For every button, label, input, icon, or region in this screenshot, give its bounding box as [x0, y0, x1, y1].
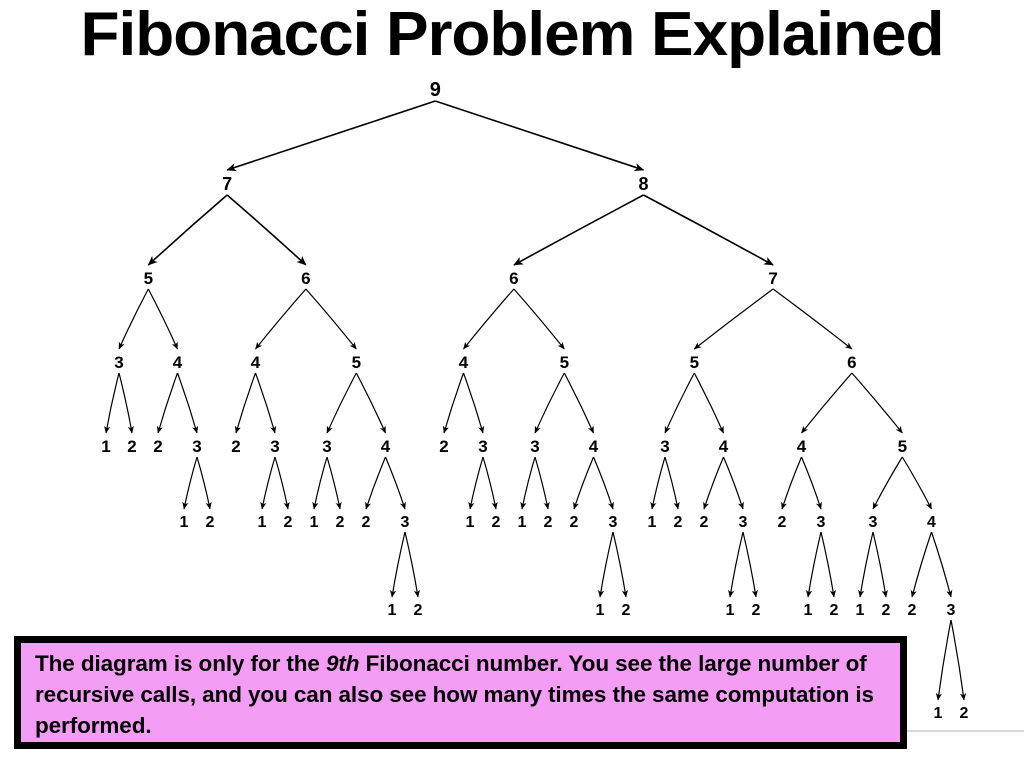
tree-node-3: 3: [322, 437, 331, 456]
tree-edge: [327, 457, 340, 509]
tree-node-1: 1: [934, 705, 943, 722]
tree-edge: [256, 289, 306, 349]
tree-node-1: 1: [310, 514, 319, 531]
tree-edge: [535, 373, 564, 433]
tree-edge: [652, 457, 665, 509]
tree-node-4: 4: [251, 353, 261, 372]
tree-node-3: 3: [401, 514, 410, 531]
tree-edge: [821, 532, 834, 597]
tree-node-3: 3: [478, 437, 487, 456]
tree-edge: [444, 373, 464, 433]
tree-node-3: 3: [739, 514, 748, 531]
tree-node-2: 2: [231, 437, 240, 456]
tree-edge: [356, 373, 385, 433]
tree-node-7: 7: [222, 174, 232, 194]
tree-node-3: 3: [869, 514, 878, 531]
tree-node-2: 2: [908, 602, 917, 619]
tree-node-2: 2: [492, 514, 501, 531]
tree-edge: [262, 457, 275, 509]
tree-edge: [178, 373, 198, 433]
tree-node-2: 2: [752, 602, 761, 619]
tree-node-1: 1: [648, 514, 657, 531]
tree-edge: [184, 457, 197, 509]
tree-nodes: 9753124231264231253124231286423125312423…: [101, 79, 968, 722]
tree-node-1: 1: [518, 514, 527, 531]
tree-edge: [522, 457, 535, 509]
tree-node-5: 5: [560, 353, 569, 372]
tree-edge: [514, 195, 644, 265]
caption-callout: The diagram is only for the 9th Fibonacc…: [14, 636, 907, 749]
tree-node-2: 2: [700, 514, 709, 531]
tree-node-2: 2: [622, 602, 631, 619]
tree-edge: [574, 457, 594, 509]
tree-node-1: 1: [726, 602, 735, 619]
tree-node-2: 2: [127, 437, 136, 456]
tree-edge: [148, 289, 177, 349]
tree-node-6: 6: [301, 269, 310, 288]
tree-edge: [564, 373, 593, 433]
tree-node-7: 7: [768, 269, 777, 288]
caption-part-1: The diagram is only for the: [35, 651, 326, 676]
tree-node-1: 1: [258, 514, 267, 531]
tree-node-2: 2: [362, 514, 371, 531]
tree-node-6: 6: [509, 269, 518, 288]
tree-edge: [275, 457, 288, 509]
tree-node-1: 1: [856, 602, 865, 619]
caption-text: The diagram is only for the 9th Fibonacc…: [35, 648, 900, 741]
tree-node-2: 2: [882, 602, 891, 619]
tree-edge: [119, 289, 148, 349]
tree-edge: [236, 373, 256, 433]
tree-node-3: 3: [609, 514, 618, 531]
tree-edge: [912, 532, 932, 597]
tree-edge: [665, 457, 678, 509]
tree-node-3: 3: [270, 437, 279, 456]
tree-edge: [724, 457, 744, 509]
baseline-rule: [907, 730, 1024, 732]
tree-edge: [392, 532, 405, 597]
tree-edge: [613, 532, 626, 597]
caption-emphasis: 9th: [326, 651, 359, 676]
tree-node-1: 1: [101, 437, 110, 456]
tree-edge: [227, 195, 306, 265]
tree-node-2: 2: [778, 514, 787, 531]
tree-edge: [464, 373, 484, 433]
tree-edge: [873, 457, 902, 509]
tree-edge: [197, 457, 210, 509]
tree-edge: [802, 373, 852, 433]
tree-edge: [694, 289, 773, 349]
tree-edge: [470, 457, 483, 509]
tree-node-2: 2: [960, 705, 969, 722]
tree-node-2: 2: [439, 437, 448, 456]
tree-edge: [314, 457, 327, 509]
tree-edge: [327, 373, 356, 433]
tree-edge: [464, 289, 514, 349]
tree-node-2: 2: [336, 514, 345, 531]
tree-edge: [951, 620, 964, 700]
tree-edge: [802, 457, 822, 509]
tree-edge: [852, 373, 902, 433]
tree-node-6: 6: [847, 353, 856, 372]
tree-edge: [306, 289, 356, 349]
tree-node-9: 9: [430, 79, 441, 101]
tree-node-5: 5: [144, 269, 153, 288]
tree-node-1: 1: [466, 514, 475, 531]
tree-node-3: 3: [114, 353, 123, 372]
tree-edge: [483, 457, 496, 509]
tree-edge: [256, 373, 276, 433]
tree-edge: [148, 195, 227, 265]
tree-node-4: 4: [381, 437, 391, 456]
tree-node-2: 2: [830, 602, 839, 619]
tree-node-3: 3: [660, 437, 669, 456]
tree-node-2: 2: [206, 514, 215, 531]
tree-edge: [535, 457, 548, 509]
tree-edge: [600, 532, 613, 597]
tree-edge: [405, 532, 418, 597]
tree-node-8: 8: [638, 174, 648, 194]
tree-node-4: 4: [797, 437, 807, 456]
tree-edge: [435, 101, 643, 170]
tree-edge: [644, 195, 774, 265]
tree-edge: [119, 373, 132, 433]
tree-edge: [227, 101, 435, 170]
tree-edge: [782, 457, 802, 509]
tree-node-5: 5: [352, 353, 361, 372]
tree-node-1: 1: [804, 602, 813, 619]
slide-root: Fibonacci Problem Explained 975312423126…: [0, 0, 1024, 768]
tree-edge: [704, 457, 724, 509]
tree-node-2: 2: [544, 514, 553, 531]
tree-edge: [808, 532, 821, 597]
tree-node-4: 4: [589, 437, 599, 456]
tree-edge: [902, 457, 931, 509]
tree-node-3: 3: [817, 514, 826, 531]
tree-node-3: 3: [530, 437, 539, 456]
tree-edge: [932, 532, 952, 597]
tree-node-2: 2: [414, 602, 423, 619]
tree-node-1: 1: [180, 514, 189, 531]
tree-node-1: 1: [596, 602, 605, 619]
tree-node-3: 3: [947, 602, 956, 619]
tree-edge: [158, 373, 178, 433]
tree-node-4: 4: [459, 353, 469, 372]
tree-edge: [514, 289, 564, 349]
tree-node-2: 2: [153, 437, 162, 456]
tree-edge: [665, 373, 694, 433]
tree-node-4: 4: [173, 353, 183, 372]
tree-node-2: 2: [284, 514, 293, 531]
tree-node-3: 3: [192, 437, 201, 456]
tree-node-4: 4: [927, 514, 936, 531]
tree-edge: [743, 532, 756, 597]
tree-edge: [594, 457, 614, 509]
tree-node-4: 4: [719, 437, 729, 456]
tree-edge: [106, 373, 119, 433]
tree-edge: [860, 532, 873, 597]
tree-edge: [386, 457, 406, 509]
tree-edge: [366, 457, 386, 509]
tree-node-2: 2: [674, 514, 683, 531]
tree-node-2: 2: [570, 514, 579, 531]
tree-edge: [938, 620, 951, 700]
tree-edge: [873, 532, 886, 597]
tree-node-1: 1: [388, 602, 397, 619]
tree-edge: [694, 373, 723, 433]
tree-node-5: 5: [690, 353, 699, 372]
tree-node-5: 5: [898, 437, 907, 456]
tree-edge: [730, 532, 743, 597]
tree-edge: [773, 289, 852, 349]
